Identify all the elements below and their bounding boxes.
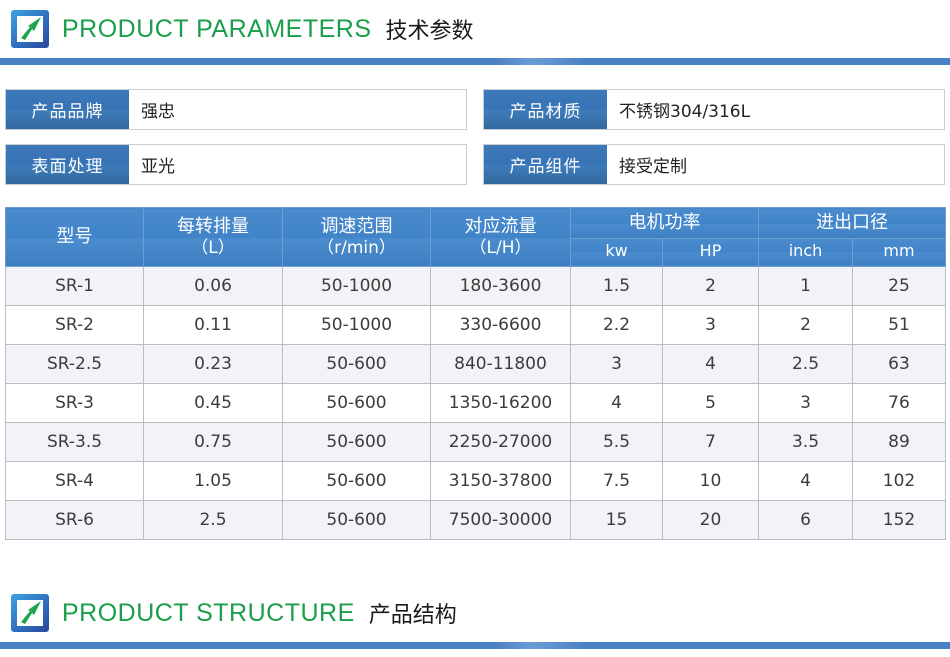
cell-mm: 76 [853,384,946,423]
cell-model: SR-3.5 [6,423,144,462]
table-row: SR-6 2.5 50-600 7500-30000 15 20 6 152 [6,501,946,540]
col-header-speed-range: 调速范围 （r/min） [283,208,431,267]
cell-mm: 102 [853,462,946,501]
cell-speed: 50-600 [283,501,431,540]
cell-flow: 3150-37800 [431,462,571,501]
table-row: SR-1 0.06 50-1000 180-3600 1.5 2 1 25 [6,267,946,306]
table-row: SR-4 1.05 50-600 3150-37800 7.5 10 4 102 [6,462,946,501]
cell-model: SR-3 [6,384,144,423]
cell-displacement: 1.05 [144,462,283,501]
cell-hp: 20 [663,501,759,540]
col-header-speed-range-unit: （r/min） [285,238,428,259]
table-body: SR-1 0.06 50-1000 180-3600 1.5 2 1 25 SR… [6,267,946,540]
cell-mm: 152 [853,501,946,540]
col-header-speed-range-label: 调速范围 [321,216,393,237]
cell-model: SR-2 [6,306,144,345]
cell-flow: 840-11800 [431,345,571,384]
section-title-en: PRODUCT STRUCTURE [62,599,355,628]
company-logo-icon [8,591,52,635]
cell-flow: 180-3600 [431,267,571,306]
section-title-cn: 技术参数 [386,13,474,45]
cell-inch: 3 [759,384,853,423]
cell-inch: 4 [759,462,853,501]
table-row: SR-2 0.11 50-1000 330-6600 2.2 3 2 51 [6,306,946,345]
spec-value-surface: 亚光 [129,145,466,184]
section-title-cn: 产品结构 [369,597,457,629]
cell-inch: 3.5 [759,423,853,462]
cell-inch: 2.5 [759,345,853,384]
spec-label-brand: 产品品牌 [6,90,129,129]
cell-hp: 5 [663,384,759,423]
spec-value-components: 接受定制 [607,145,944,184]
cell-mm: 25 [853,267,946,306]
spec-label-components: 产品组件 [484,145,607,184]
cell-speed: 50-600 [283,423,431,462]
cell-inch: 2 [759,306,853,345]
cell-mm: 89 [853,423,946,462]
cell-model: SR-6 [6,501,144,540]
cell-model: SR-4 [6,462,144,501]
cell-speed: 50-600 [283,462,431,501]
cell-hp: 10 [663,462,759,501]
cell-kw: 4 [571,384,663,423]
cell-hp: 7 [663,423,759,462]
col-header-model: 型号 [6,208,144,267]
cell-mm: 63 [853,345,946,384]
cell-model: SR-1 [6,267,144,306]
cell-hp: 3 [663,306,759,345]
col-header-displacement-label: 每转排量 [177,216,249,237]
cell-displacement: 2.5 [144,501,283,540]
spec-value-brand: 强忠 [129,90,466,129]
section-title-en: PRODUCT PARAMETERS [62,15,372,44]
cell-flow: 7500-30000 [431,501,571,540]
cell-flow: 1350-16200 [431,384,571,423]
spec-row: 产品材质 不锈钢304/316L [483,89,945,130]
col-subheader-inch: inch [759,238,853,267]
section-header-structure: PRODUCT STRUCTURE 产品结构 [0,584,950,642]
cell-displacement: 0.45 [144,384,283,423]
col-header-flow-label: 对应流量 [465,216,537,237]
cell-displacement: 0.11 [144,306,283,345]
cell-speed: 50-1000 [283,306,431,345]
cell-kw: 2.2 [571,306,663,345]
table-header-row-primary: 型号 每转排量 （L） 调速范围 （r/min） 对应流量 （L/H） 电机功率 [6,208,946,239]
cell-kw: 5.5 [571,423,663,462]
spec-grid: 产品品牌 强忠 产品材质 不锈钢304/316L 表面处理 亚光 产品组件 接受… [0,65,950,185]
spec-row: 产品组件 接受定制 [483,144,945,185]
cell-displacement: 0.06 [144,267,283,306]
col-header-displacement-unit: （L） [146,238,280,259]
spec-row: 产品品牌 强忠 [5,89,467,130]
cell-hp: 4 [663,345,759,384]
cell-speed: 50-1000 [283,267,431,306]
col-header-displacement: 每转排量 （L） [144,208,283,267]
product-parameters-page: PRODUCT PARAMETERS 技术参数 产品品牌 强忠 产品材质 不锈钢… [0,0,950,657]
col-header-flow: 对应流量 （L/H） [431,208,571,267]
spec-value-material: 不锈钢304/316L [607,90,944,129]
cell-displacement: 0.23 [144,345,283,384]
table-head: 型号 每转排量 （L） 调速范围 （r/min） 对应流量 （L/H） 电机功率 [6,208,946,267]
section-divider-rule [0,642,950,649]
cell-kw: 3 [571,345,663,384]
table-row: SR-3 0.45 50-600 1350-16200 4 5 3 76 [6,384,946,423]
cell-flow: 2250-27000 [431,423,571,462]
table-row: SR-2.5 0.23 50-600 840-11800 3 4 2.5 63 [6,345,946,384]
section-header-parameters: PRODUCT PARAMETERS 技术参数 [0,0,950,58]
cell-hp: 2 [663,267,759,306]
col-header-flow-unit: （L/H） [433,238,568,259]
cell-flow: 330-6600 [431,306,571,345]
cell-kw: 7.5 [571,462,663,501]
spec-label-surface: 表面处理 [6,145,129,184]
cell-kw: 15 [571,501,663,540]
cell-kw: 1.5 [571,267,663,306]
cell-mm: 51 [853,306,946,345]
cell-inch: 1 [759,267,853,306]
col-subheader-hp: HP [663,238,759,267]
spec-label-material: 产品材质 [484,90,607,129]
col-header-model-label: 型号 [57,226,93,247]
col-header-port-size: 进出口径 [759,208,946,239]
parameters-table-wrap: 型号 每转排量 （L） 调速范围 （r/min） 对应流量 （L/H） 电机功率 [0,185,950,540]
company-logo-icon [8,7,52,51]
parameters-table: 型号 每转排量 （L） 调速范围 （r/min） 对应流量 （L/H） 电机功率 [5,207,946,540]
cell-displacement: 0.75 [144,423,283,462]
cell-model: SR-2.5 [6,345,144,384]
cell-inch: 6 [759,501,853,540]
cell-speed: 50-600 [283,345,431,384]
spec-row: 表面处理 亚光 [5,144,467,185]
section-divider-rule [0,58,950,65]
table-row: SR-3.5 0.75 50-600 2250-27000 5.5 7 3.5 … [6,423,946,462]
col-subheader-kw: kw [571,238,663,267]
col-subheader-mm: mm [853,238,946,267]
cell-speed: 50-600 [283,384,431,423]
col-header-motor-power: 电机功率 [571,208,759,239]
